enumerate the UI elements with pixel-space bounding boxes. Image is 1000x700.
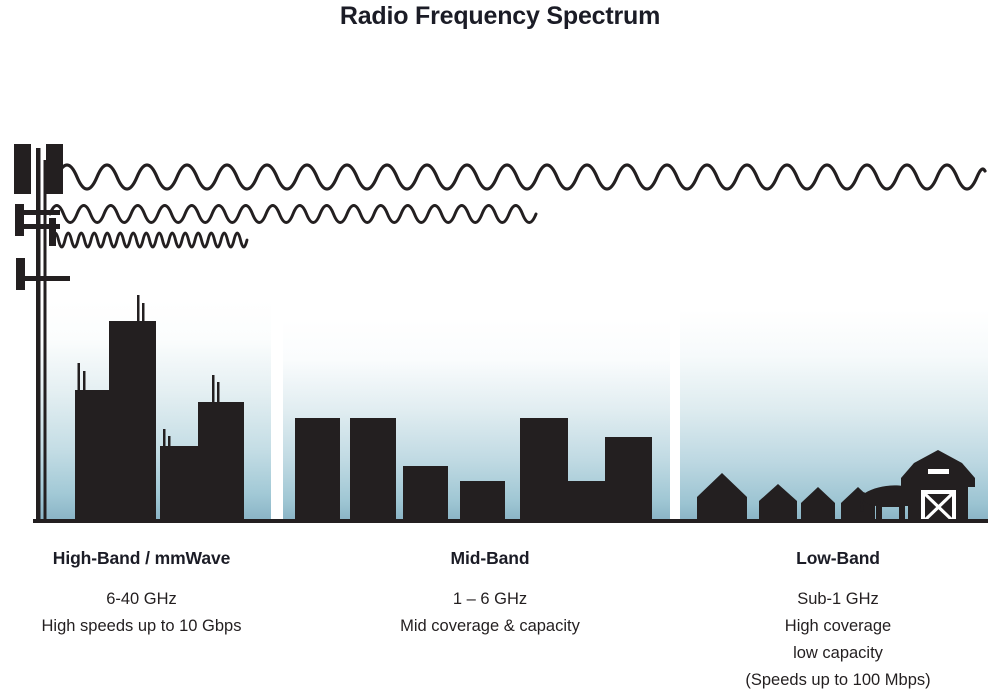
band-detail-line-low-1: low capacity	[676, 640, 1000, 667]
band-detail-high: 6-40 GHz High speeds up to 10 Gbps	[0, 586, 283, 640]
medium-wavelength-wave	[50, 206, 536, 223]
band-name-high: High-Band / mmWave	[0, 548, 283, 569]
band-detail-low: Sub-1 GHz High coverage low capacity (Sp…	[676, 586, 1000, 694]
band-detail-line-low-2: (Speeds up to 100 Mbps)	[676, 667, 1000, 694]
band-caption-mid: Mid-Band 1 – 6 GHz Mid coverage & capaci…	[330, 548, 650, 640]
long-wavelength-wave	[57, 165, 985, 189]
band-frequency-mid: 1 – 6 GHz	[330, 586, 650, 613]
band-detail-mid: 1 – 6 GHz Mid coverage & capacity	[330, 586, 650, 640]
band-frequency-low: Sub-1 GHz	[676, 586, 1000, 613]
band-detail-line-low-0: High coverage	[676, 613, 1000, 640]
infographic-root: Radio Frequency Spectrum	[0, 0, 1000, 700]
band-frequency-high: 6-40 GHz	[0, 586, 283, 613]
band-name-low: Low-Band	[676, 548, 1000, 569]
band-detail-line-high-0: High speeds up to 10 Gbps	[0, 613, 283, 640]
band-caption-low: Low-Band Sub-1 GHz High coverage low cap…	[676, 548, 1000, 694]
band-name-mid: Mid-Band	[330, 548, 650, 569]
band-detail-line-mid-0: Mid coverage & capacity	[330, 613, 650, 640]
short-wavelength-wave	[52, 233, 247, 247]
band-caption-high: High-Band / mmWave 6-40 GHz High speeds …	[0, 548, 283, 640]
ground-line	[33, 519, 988, 523]
